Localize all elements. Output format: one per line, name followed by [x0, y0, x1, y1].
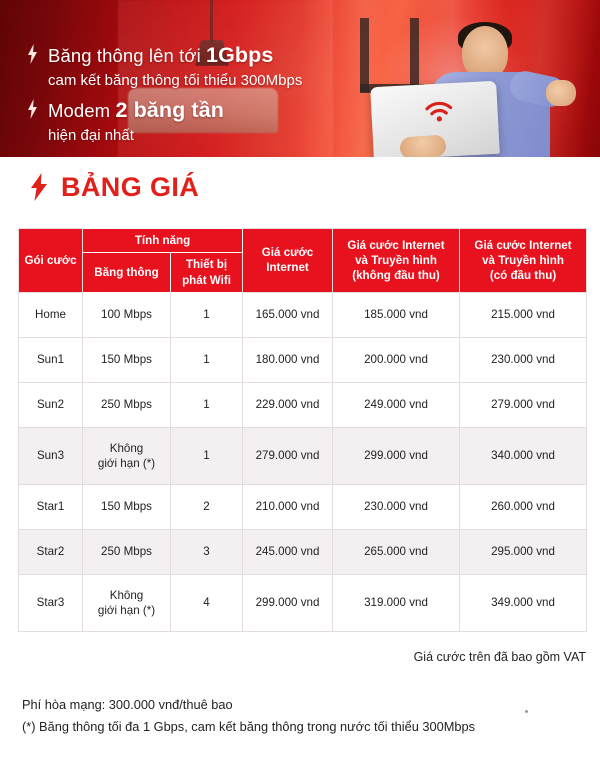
cell-wifi-devices: 1: [171, 292, 243, 337]
cell-tv-box-price: 295.000 vnd: [460, 529, 587, 574]
cell-tv-box-price: 230.000 vnd: [460, 337, 587, 382]
banner-bullet-1: Băng thông lên tới 1Gbps cam kết băng th…: [26, 42, 302, 90]
cell-tv-no-box-price: 319.000 vnd: [333, 574, 460, 631]
cell-tv-no-box-price: 299.000 vnd: [333, 427, 460, 484]
cell-internet-price: 165.000 vnd: [243, 292, 333, 337]
banner-bullet-2: Modem 2 băng tần hiện đại nhất: [26, 97, 224, 145]
cell-package: Sun3: [19, 427, 83, 484]
footer-note-2: (*) Băng thông tối đa 1 Gbps, cam kết bă…: [22, 716, 582, 738]
bullet2-highlight: 2 băng tần: [115, 98, 224, 122]
wifi-icon: [423, 99, 454, 125]
th-bandwidth: Băng thông: [83, 253, 171, 293]
table-row[interactable]: Star2250 Mbps3245.000 vnd265.000 vnd295.…: [19, 529, 587, 574]
cell-package: Star2: [19, 529, 83, 574]
cell-wifi-devices: 4: [171, 574, 243, 631]
th-tv-no-box-l2: và Truyền hình: [335, 253, 457, 268]
th-internet-price: Giá cước Internet: [243, 229, 333, 293]
th-tv-no-box-l1: Giá cước Internet: [335, 238, 457, 253]
pointing-hand: [546, 80, 576, 106]
cell-internet-price: 180.000 vnd: [243, 337, 333, 382]
th-tv-box: Giá cước Internet và Truyền hình (có đầu…: [460, 229, 587, 293]
cell-internet-price: 210.000 vnd: [243, 484, 333, 529]
stray-dot: [525, 710, 528, 713]
table-body: Home100 Mbps1165.000 vnd185.000 vnd215.0…: [19, 292, 587, 631]
promo-banner: Băng thông lên tới 1Gbps cam kết băng th…: [0, 0, 600, 157]
price-table: Gói cước Tính năng Giá cước Internet Giá…: [18, 228, 587, 632]
cell-internet-price: 279.000 vnd: [243, 427, 333, 484]
vat-note: Giá cước trên đã bao gồm VAT: [0, 650, 586, 664]
cell-package: Sun2: [19, 382, 83, 427]
page-title: BẢNG GIÁ: [61, 172, 199, 203]
cell-tv-box-price: 349.000 vnd: [460, 574, 587, 631]
cell-bandwidth: 150 Mbps: [83, 484, 171, 529]
th-tv-no-box-l3: (không đầu thu): [335, 268, 457, 283]
section-title-row: BẢNG GIÁ: [0, 157, 600, 217]
th-tv-no-box: Giá cước Internet và Truyền hình (không …: [333, 229, 460, 293]
bullet1-sub: cam kết băng thông tối thiểu 300Mbps: [48, 71, 302, 90]
cell-tv-no-box-price: 230.000 vnd: [333, 484, 460, 529]
th-package: Gói cước: [19, 229, 83, 293]
footer-note-1: Phí hòa mạng: 300.000 vnđ/thuê bao: [22, 694, 582, 716]
cell-wifi-devices: 1: [171, 427, 243, 484]
cell-bandwidth: Khônggiới hạn (*): [83, 574, 171, 631]
cell-internet-price: 229.000 vnd: [243, 382, 333, 427]
cell-wifi-devices: 1: [171, 382, 243, 427]
th-internet-price-l2: Internet: [245, 260, 330, 275]
bullet1-highlight: 1Gbps: [206, 43, 273, 67]
banner-copy: Băng thông lên tới 1Gbps cam kết băng th…: [0, 0, 330, 157]
table-row[interactable]: Sun3Khônggiới hạn (*)1279.000 vnd299.000…: [19, 427, 587, 484]
cell-package: Star1: [19, 484, 83, 529]
cell-tv-box-price: 340.000 vnd: [460, 427, 587, 484]
cell-package: Star3: [19, 574, 83, 631]
cell-bandwidth: Khônggiới hạn (*): [83, 427, 171, 484]
table-row[interactable]: Star1150 Mbps2210.000 vnd230.000 vnd260.…: [19, 484, 587, 529]
cell-tv-no-box-price: 265.000 vnd: [333, 529, 460, 574]
cell-bandwidth: 250 Mbps: [83, 529, 171, 574]
table-row[interactable]: Sun1150 Mbps1180.000 vnd200.000 vnd230.0…: [19, 337, 587, 382]
cell-wifi-devices: 2: [171, 484, 243, 529]
th-tv-box-l3: (có đầu thu): [462, 268, 584, 283]
table-header-row-1: Gói cước Tính năng Giá cước Internet Giá…: [19, 229, 587, 253]
cell-internet-price: 299.000 vnd: [243, 574, 333, 631]
lightning-bolt-icon: [28, 173, 50, 201]
th-wifi-device: Thiết bị phát Wifi: [171, 253, 243, 293]
table-row[interactable]: Sun2250 Mbps1229.000 vnd249.000 vnd279.0…: [19, 382, 587, 427]
table-row[interactable]: Star3Khônggiới hạn (*)4299.000 vnd319.00…: [19, 574, 587, 631]
th-internet-price-l1: Giá cước: [245, 245, 330, 260]
bullet1-text: Băng thông lên tới: [48, 45, 206, 66]
th-tv-box-l2: và Truyền hình: [462, 253, 584, 268]
th-wifi-device-l1: Thiết bị: [173, 257, 240, 272]
cell-bandwidth-l1: Không: [85, 588, 168, 603]
cell-package: Sun1: [19, 337, 83, 382]
cell-tv-no-box-price: 200.000 vnd: [333, 337, 460, 382]
cell-wifi-devices: 1: [171, 337, 243, 382]
cell-bandwidth-l2: giới hạn (*): [85, 603, 168, 618]
cell-bandwidth: 100 Mbps: [83, 292, 171, 337]
cell-internet-price: 245.000 vnd: [243, 529, 333, 574]
table-head: Gói cước Tính năng Giá cước Internet Giá…: [19, 229, 587, 293]
th-tv-box-l1: Giá cước Internet: [462, 238, 584, 253]
cell-bandwidth-l1: Không: [85, 441, 168, 456]
cell-tv-box-price: 279.000 vnd: [460, 382, 587, 427]
cell-tv-no-box-price: 249.000 vnd: [333, 382, 460, 427]
th-wifi-device-l2: phát Wifi: [173, 273, 240, 288]
cell-wifi-devices: 3: [171, 529, 243, 574]
bullet2-sub: hiện đại nhất: [48, 126, 224, 145]
cell-package: Home: [19, 292, 83, 337]
th-features-group: Tính năng: [83, 229, 243, 253]
holding-hand: [399, 134, 446, 157]
cell-bandwidth: 150 Mbps: [83, 337, 171, 382]
table-row[interactable]: Home100 Mbps1165.000 vnd185.000 vnd215.0…: [19, 292, 587, 337]
cell-tv-no-box-price: 185.000 vnd: [333, 292, 460, 337]
lightning-bolt-icon: [26, 42, 39, 69]
cell-tv-box-price: 215.000 vnd: [460, 292, 587, 337]
price-table-wrapper: Gói cước Tính năng Giá cước Internet Giá…: [18, 228, 586, 632]
bullet2-text: Modem: [48, 100, 115, 121]
cell-bandwidth: 250 Mbps: [83, 382, 171, 427]
lightning-bolt-icon: [26, 97, 39, 124]
cell-bandwidth-l2: giới hạn (*): [85, 456, 168, 471]
cell-tv-box-price: 260.000 vnd: [460, 484, 587, 529]
footer-notes: Phí hòa mạng: 300.000 vnđ/thuê bao (*) B…: [22, 694, 582, 739]
